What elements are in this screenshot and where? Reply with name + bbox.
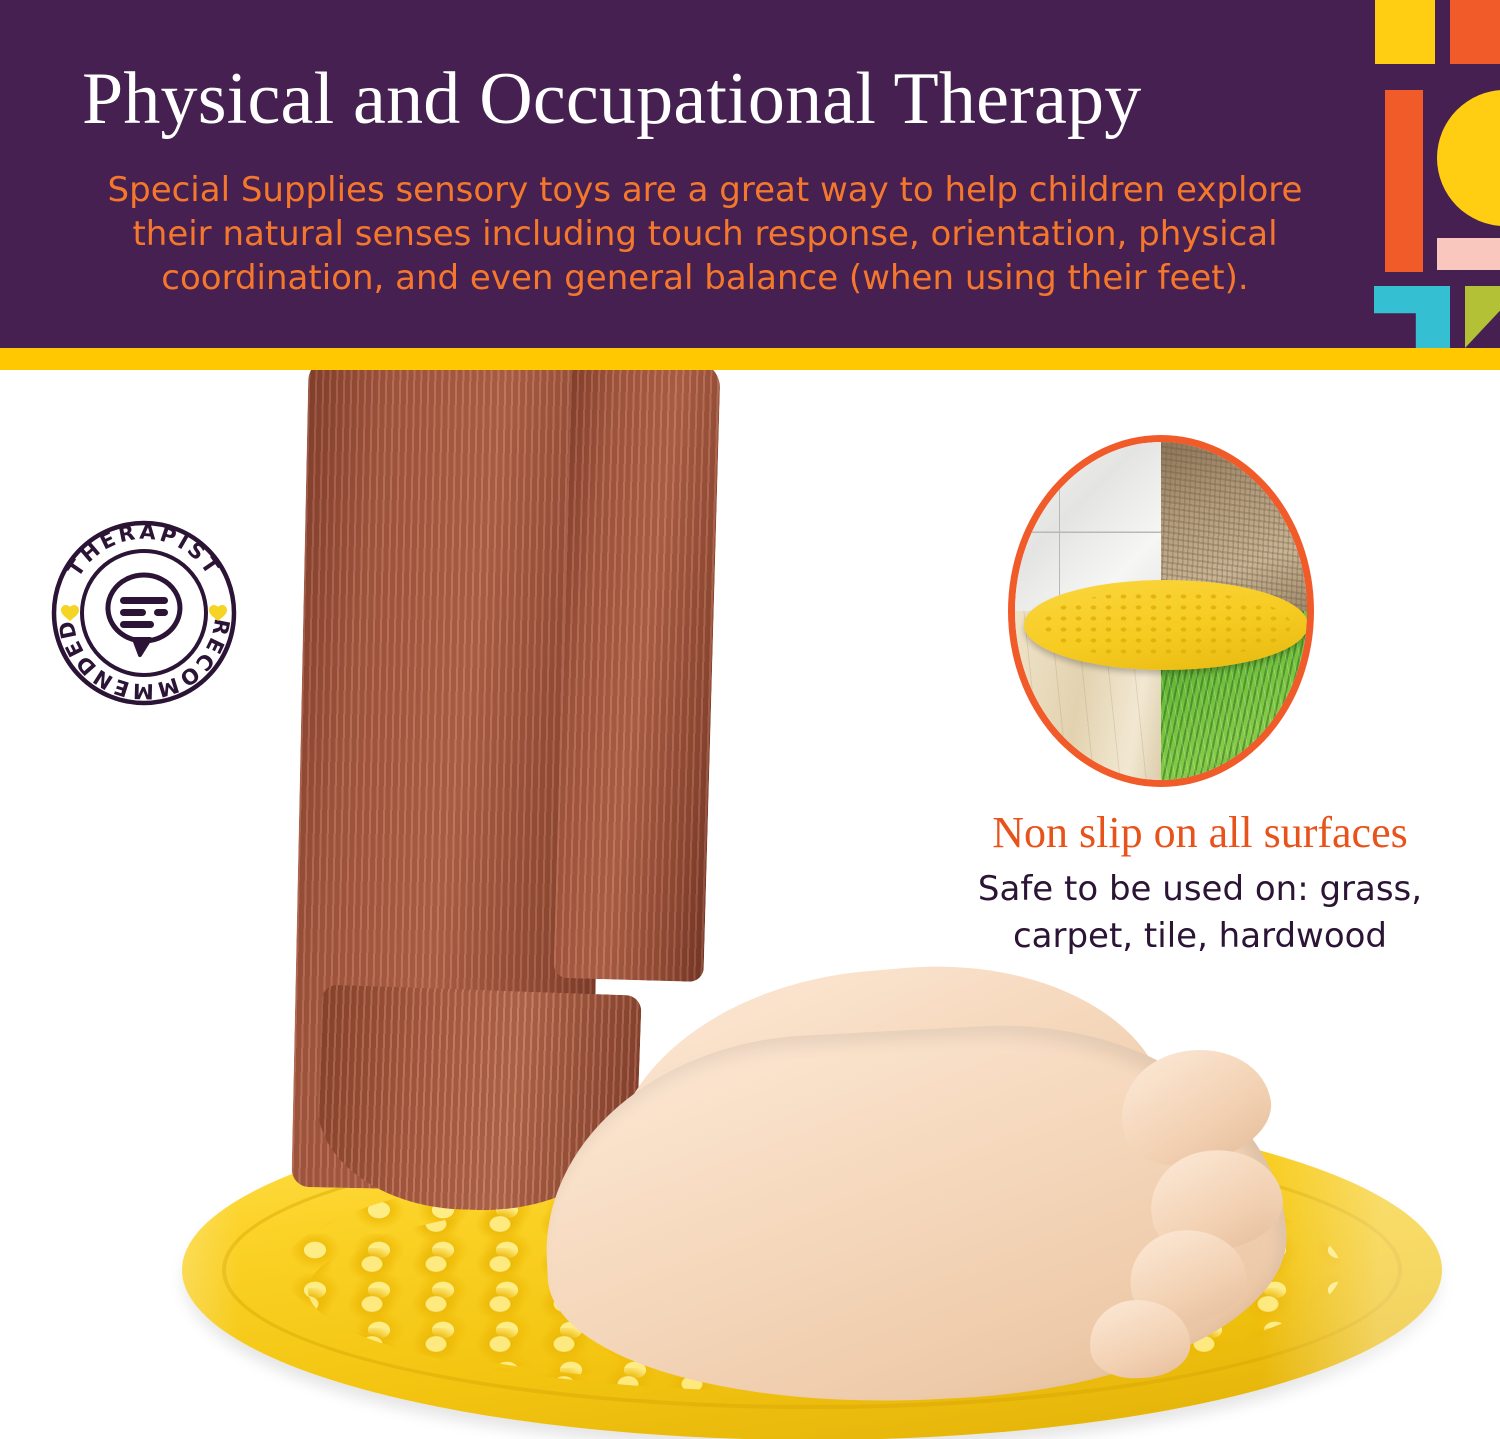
- product-infographic: Physical and Occupational Therapy Specia…: [0, 0, 1500, 1439]
- non-slip-subtext-line-1: Safe to be used on: grass,: [930, 866, 1470, 913]
- header-description-line-3: coordination, and even general balance (…: [70, 256, 1340, 300]
- therapist-recommended-badge: THERAPIST RECOMMENDED: [44, 513, 244, 713]
- speech-bubble-icon: [108, 575, 180, 655]
- child-leg-front: [553, 370, 720, 982]
- surfaces-inset-circle: [1008, 435, 1314, 787]
- yellow-circle-decoration: [1437, 90, 1500, 226]
- non-slip-subtext-line-2: carpet, tile, hardwood: [930, 913, 1470, 960]
- yellow-divider-bar: [0, 348, 1500, 370]
- page-title: Physical and Occupational Therapy: [82, 56, 1342, 142]
- non-slip-heading: Non slip on all surfaces: [920, 808, 1480, 858]
- yellow-rectangle-decoration: [1375, 0, 1435, 64]
- non-slip-subtext: Safe to be used on: grass, carpet, tile,…: [930, 866, 1470, 960]
- orange-rectangle-decoration: [1450, 0, 1500, 64]
- header-description-line-1: Special Supplies sensory toys are a grea…: [70, 168, 1340, 212]
- olive-triangle-decoration: [1465, 286, 1500, 348]
- header-description: Special Supplies sensory toys are a grea…: [70, 168, 1340, 300]
- header-banner: Physical and Occupational Therapy Specia…: [0, 0, 1500, 348]
- badge-bottom-text: RECOMMENDED: [54, 617, 234, 703]
- cyan-l-shape-decoration: [1374, 286, 1450, 348]
- pink-rectangle-decoration: [1437, 238, 1500, 270]
- inset-sensory-disc: [1024, 580, 1308, 670]
- header-description-line-2: their natural senses including touch res…: [70, 212, 1340, 256]
- orange-bar-decoration: [1385, 90, 1423, 272]
